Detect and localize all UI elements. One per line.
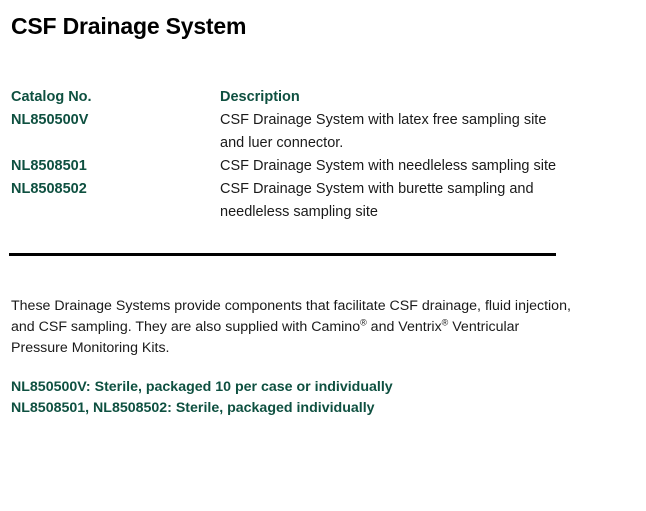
cell-description: CSF Drainage System with latex free samp… <box>220 109 611 155</box>
document-page: CSF Drainage System Catalog No. Descript… <box>0 0 646 511</box>
registered-trademark-icon: ® <box>360 317 367 327</box>
column-header-catalog-no: Catalog No. <box>11 86 220 109</box>
paragraph-text-part-2: and Ventrix <box>367 319 442 335</box>
page-title: CSF Drainage System <box>11 13 246 40</box>
table-row: NL8508502 CSF Drainage System with buret… <box>11 178 611 224</box>
column-header-description: Description <box>220 86 611 109</box>
description-line: CSF Drainage System with needleless samp… <box>220 155 611 178</box>
sterility-note-line: NL8508501, NL8508502: Sterile, packaged … <box>11 398 571 419</box>
description-paragraph: These Drainage Systems provide component… <box>11 296 571 359</box>
table-header-row: Catalog No. Description <box>11 86 611 109</box>
sterility-note-line: NL850500V: Sterile, packaged 10 per case… <box>11 377 571 398</box>
cell-description: CSF Drainage System with needleless samp… <box>220 155 611 178</box>
description-line: needleless sampling site <box>220 201 611 224</box>
table-row: NL8508501 CSF Drainage System with needl… <box>11 155 611 178</box>
description-line: CSF Drainage System with burette samplin… <box>220 178 611 201</box>
cell-catalog-no: NL8508502 <box>11 178 220 201</box>
catalog-table: Catalog No. Description NL850500V CSF Dr… <box>11 86 611 224</box>
horizontal-rule <box>9 253 556 256</box>
description-line: and luer connector. <box>220 132 611 155</box>
sterility-notes: NL850500V: Sterile, packaged 10 per case… <box>11 377 571 419</box>
cell-catalog-no: NL850500V <box>11 109 220 132</box>
cell-catalog-no: NL8508501 <box>11 155 220 178</box>
table-row: NL850500V CSF Drainage System with latex… <box>11 109 611 155</box>
cell-description: CSF Drainage System with burette samplin… <box>220 178 611 224</box>
description-line: CSF Drainage System with latex free samp… <box>220 109 611 132</box>
